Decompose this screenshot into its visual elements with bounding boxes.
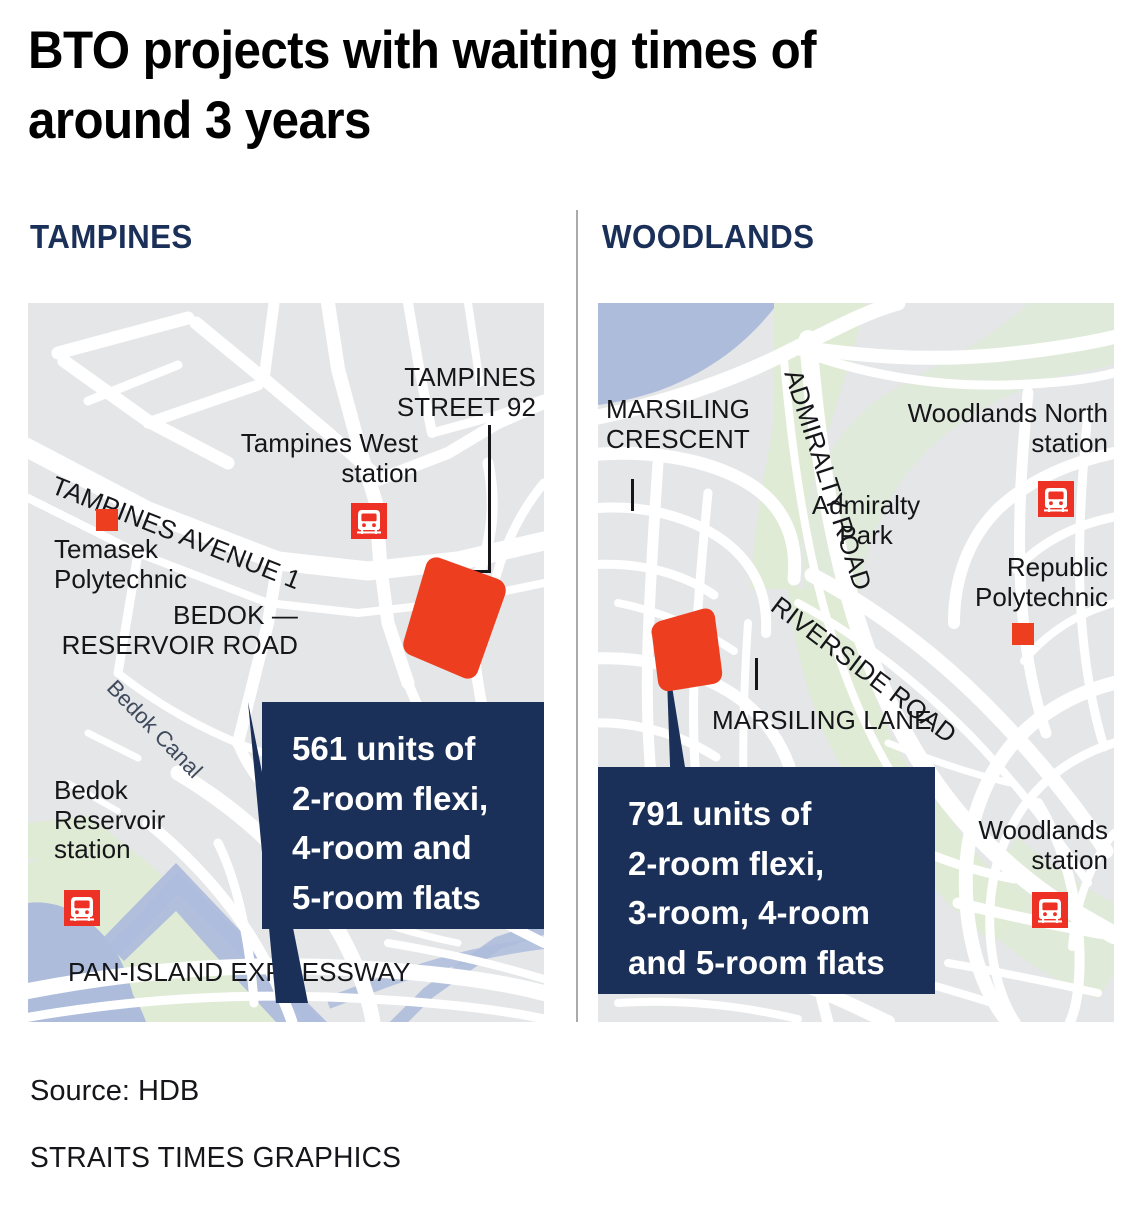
source-line: Source: HDB bbox=[30, 1075, 199, 1108]
callout-tampines: 561 units of 2-room flexi, 4-room and 5-… bbox=[262, 702, 544, 929]
section-heading-tampines: TAMPINES bbox=[30, 218, 193, 256]
page-title: BTO projects with waiting times of aroun… bbox=[28, 16, 958, 157]
section-heading-woodlands: WOODLANDS bbox=[602, 218, 814, 256]
credit-line: STRAITS TIMES GRAPHICS bbox=[30, 1142, 401, 1175]
callout-woodlands: 791 units of 2-room flexi, 3-room, 4-roo… bbox=[598, 767, 935, 994]
column-divider bbox=[576, 210, 578, 1022]
